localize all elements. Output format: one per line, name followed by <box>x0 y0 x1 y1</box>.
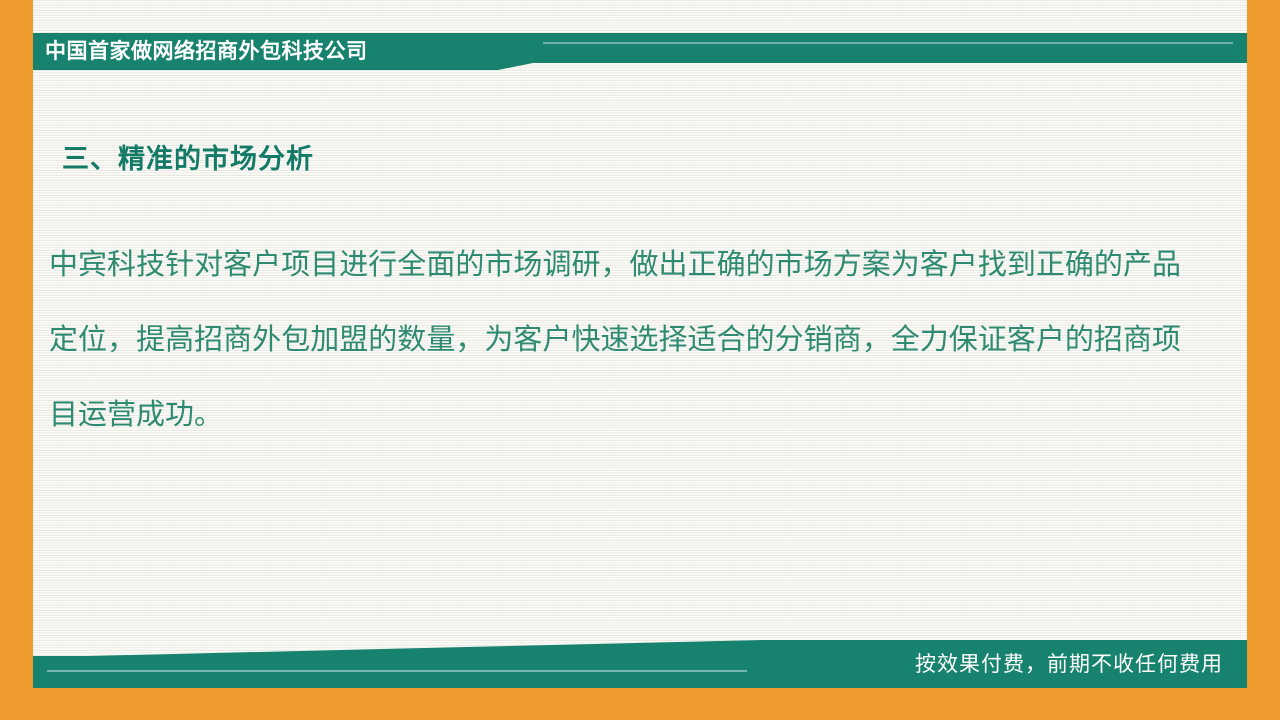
footer-band-divider-line <box>47 670 747 672</box>
slide-canvas: 中国首家做网络招商外包科技公司 三、精准的市场分析 中宾科技针对客户项目进行全面… <box>0 0 1280 720</box>
footer-slogan: 按效果付费，前期不收任何费用 <box>915 645 1223 685</box>
section-heading: 三、精准的市场分析 <box>62 137 314 176</box>
header-title: 中国首家做网络招商外包科技公司 <box>45 33 368 70</box>
body-paragraph: 中宾科技针对客户项目进行全面的市场调研，做出正确的市场方案为客户找到正确的产品定… <box>49 228 1181 453</box>
header-band-divider-line <box>543 42 1233 44</box>
